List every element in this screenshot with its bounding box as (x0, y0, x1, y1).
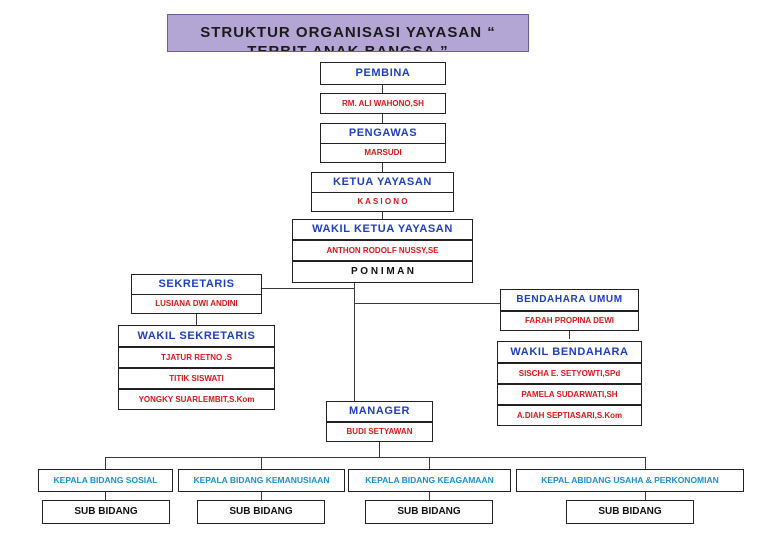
node-wakil-ketua-yayasan[interactable]: WAKIL KETUA YAYASAN (292, 219, 473, 240)
node-pembina-name-label: RM. ALI WAHONO,SH (342, 99, 424, 108)
node-sub-bidang-2-label: SUB BIDANG (229, 506, 292, 517)
node-wakil-sekretaris-label: WAKIL SEKRETARIS (138, 330, 256, 342)
node-wakil-bendahara[interactable]: WAKIL BENDAHARA (497, 341, 642, 363)
connector (569, 330, 570, 339)
node-bidang-kemanusiaan[interactable]: KEPALA BIDANG KEMANUSIAAN (178, 469, 345, 492)
node-wakil-sekretaris[interactable]: WAKIL SEKRETARIS (118, 325, 275, 347)
org-chart-canvas: STRUKTUR ORGANISASI YAYASAN “ TERBIT ANA… (0, 0, 768, 543)
node-wakil-ketua-name-2[interactable]: P O N I M A N (292, 261, 473, 283)
connector (379, 442, 380, 457)
node-bidang-keagamaan-label: KEPALA BIDANG KEAGAMAAN (365, 475, 493, 485)
node-wakil-bendahara-name-3[interactable]: A.DIAH SEPTIASARI,S.Kom (497, 405, 642, 426)
connector (354, 283, 355, 405)
node-bendahara-umum-label: BENDAHARA UMUM (516, 294, 622, 305)
node-wakil-bendahara-label: WAKIL BENDAHARA (510, 346, 628, 358)
node-sub-bidang-4[interactable]: SUB BIDANG (566, 500, 694, 524)
node-wakil-ketua-name-1-label: ANTHON RODOLF NUSSY,SE (326, 246, 438, 255)
node-wakil-sekretaris-name-3-label: YONGKY SUARLEMBIT,S.Kom (139, 395, 255, 404)
node-bendahara-umum-name[interactable]: FARAH PROPINA DEWI (500, 311, 639, 331)
node-pengawas-name[interactable]: MARSUDI (320, 143, 446, 163)
node-ketua-yayasan-name-label: K A S I O N O (357, 197, 407, 206)
node-wakil-ketua-yayasan-label: WAKIL KETUA YAYASAN (312, 223, 453, 235)
node-wakil-bendahara-name-3-label: A.DIAH SEPTIASARI,S.Kom (517, 411, 622, 420)
node-pembina-name[interactable]: RM. ALI WAHONO,SH (320, 93, 446, 114)
node-pengawas[interactable]: PENGAWAS (320, 123, 446, 144)
node-wakil-bendahara-name-1-label: SISCHA E. SETYOWTI,SPd (519, 369, 621, 378)
node-sekretaris-label: SEKRETARIS (158, 278, 234, 290)
node-ketua-yayasan-name[interactable]: K A S I O N O (311, 192, 454, 212)
node-bendahara-umum[interactable]: BENDAHARA UMUM (500, 289, 639, 311)
node-pengawas-name-label: MARSUDI (364, 148, 401, 157)
node-pengawas-label: PENGAWAS (349, 127, 417, 139)
node-pembina[interactable]: PEMBINA (320, 62, 446, 85)
node-wakil-sekretaris-name-3[interactable]: YONGKY SUARLEMBIT,S.Kom (118, 389, 275, 410)
node-ketua-yayasan[interactable]: KETUA YAYASAN (311, 172, 454, 193)
node-wakil-sekretaris-name-1[interactable]: TJATUR RETNO .S (118, 347, 275, 368)
node-sekretaris-name[interactable]: LUSIANA DWI ANDINI (131, 294, 262, 314)
connector (429, 492, 430, 500)
node-bendahara-umum-name-label: FARAH PROPINA DEWI (525, 316, 614, 325)
node-manager-label: MANAGER (349, 405, 410, 417)
node-sub-bidang-3[interactable]: SUB BIDANG (365, 500, 493, 524)
node-bidang-sosial[interactable]: KEPALA BIDANG SOSIAL (38, 469, 173, 492)
node-wakil-sekretaris-name-2[interactable]: TITIK SISWATI (118, 368, 275, 389)
node-manager[interactable]: MANAGER (326, 401, 433, 422)
node-manager-name[interactable]: BUDI SETYAWAN (326, 422, 433, 442)
node-bidang-usaha[interactable]: KEPAL ABIDANG USAHA & PERKONOMIAN (516, 469, 744, 492)
page-title: STRUKTUR ORGANISASI YAYASAN “ TERBIT ANA… (167, 14, 529, 52)
node-sub-bidang-1[interactable]: SUB BIDANG (42, 500, 170, 524)
node-bidang-keagamaan[interactable]: KEPALA BIDANG KEAGAMAAN (348, 469, 511, 492)
node-ketua-yayasan-label: KETUA YAYASAN (333, 176, 432, 188)
node-bidang-sosial-label: KEPALA BIDANG SOSIAL (54, 475, 158, 485)
node-wakil-sekretaris-name-1-label: TJATUR RETNO .S (161, 353, 232, 362)
node-wakil-bendahara-name-1[interactable]: SISCHA E. SETYOWTI,SPd (497, 363, 642, 384)
node-wakil-sekretaris-name-2-label: TITIK SISWATI (169, 374, 224, 383)
node-sub-bidang-2[interactable]: SUB BIDANG (197, 500, 325, 524)
connector (645, 492, 646, 500)
node-bidang-usaha-label: KEPAL ABIDANG USAHA & PERKONOMIAN (541, 475, 719, 485)
node-pembina-label: PEMBINA (356, 67, 411, 79)
node-sekretaris-name-label: LUSIANA DWI ANDINI (155, 299, 238, 308)
node-sub-bidang-3-label: SUB BIDANG (397, 506, 460, 517)
node-sub-bidang-1-label: SUB BIDANG (74, 506, 137, 517)
node-sekretaris[interactable]: SEKRETARIS (131, 274, 262, 295)
connector (105, 457, 645, 458)
node-wakil-ketua-name-1[interactable]: ANTHON RODOLF NUSSY,SE (292, 240, 473, 261)
node-wakil-bendahara-name-2[interactable]: PAMELA SUDARWATI,SH (497, 384, 642, 405)
node-manager-name-label: BUDI SETYAWAN (347, 427, 413, 436)
connector (105, 492, 106, 500)
node-bidang-kemanusiaan-label: KEPALA BIDANG KEMANUSIAAN (194, 475, 330, 485)
connector (261, 492, 262, 500)
node-wakil-ketua-name-2-label: P O N I M A N (351, 266, 414, 277)
node-wakil-bendahara-name-2-label: PAMELA SUDARWATI,SH (521, 390, 617, 399)
node-sub-bidang-4-label: SUB BIDANG (598, 506, 661, 517)
